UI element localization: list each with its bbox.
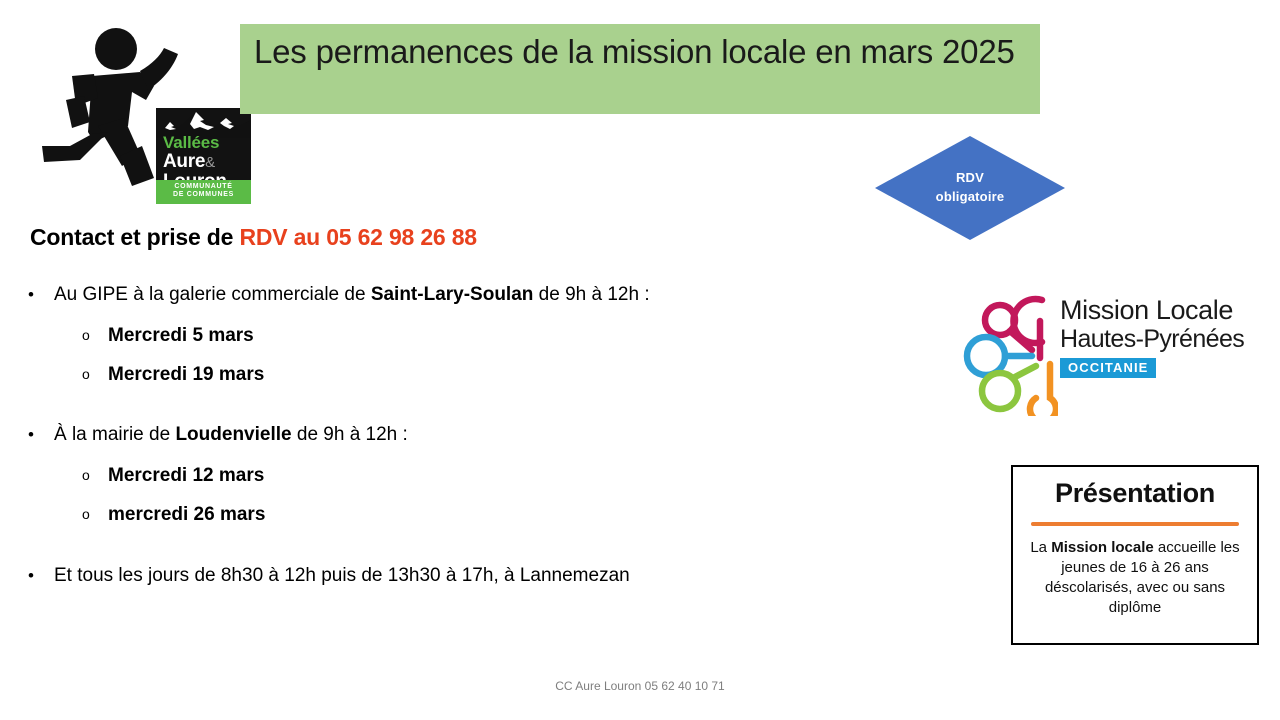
list-item: o Mercredi 19 mars: [28, 364, 858, 387]
list-item: o Mercredi 12 mars: [28, 465, 858, 488]
spacer: [28, 488, 858, 504]
sub-bullet-marker: o: [82, 325, 108, 347]
sub-bullet-marker: o: [82, 504, 108, 526]
bullet-marker: •: [28, 284, 54, 305]
diamond-label-line1: RDV: [956, 169, 984, 188]
diamond-label-line2: obligatoire: [936, 188, 1005, 207]
presentation-title: Présentation: [1023, 479, 1247, 509]
slide-title-banner: Les permanences de la mission locale en …: [240, 24, 1040, 114]
list-item: • Au GIPE à la galerie commerciale de Sa…: [28, 284, 858, 307]
occitanie-badge: OCCITANIE: [1060, 358, 1156, 378]
location-name: Loudenvielle: [175, 424, 291, 445]
sub-item-text: Mercredi 5 mars: [108, 325, 254, 348]
spacer: [28, 386, 858, 424]
spacer: [28, 447, 858, 465]
bullet-marker: •: [28, 565, 54, 586]
list-item-text: Et tous les jours de 8h30 à 12h puis de …: [54, 565, 630, 588]
presentation-body: La Mission locale accueille les jeunes d…: [1023, 538, 1247, 618]
list-item-text: À la mairie de Loudenvielle de 9h à 12h …: [54, 424, 408, 447]
mission-locale-wordmark: Mission Locale Hautes-Pyrénées OCCITANIE: [1060, 296, 1260, 378]
spacer: [28, 307, 858, 325]
contact-phone: RDV au 05 62 98 26 88: [239, 224, 476, 250]
list-item: • À la mairie de Loudenvielle de 9h à 12…: [28, 424, 858, 447]
mission-locale-circles-icon: [962, 286, 1058, 416]
divider: [1031, 522, 1239, 526]
rdv-obligatoire-badge: RDV obligatoire: [875, 136, 1065, 240]
spacer: [28, 348, 858, 364]
list-item-text: Au GIPE à la galerie commerciale de Sain…: [54, 284, 650, 307]
presentation-body-bold: Mission locale: [1051, 539, 1154, 556]
location-name: Saint-Lary-Soulan: [371, 284, 534, 305]
presentation-callout-box: Présentation La Mission locale accueille…: [1011, 465, 1259, 645]
list-item: o Mercredi 5 mars: [28, 325, 858, 348]
mission-locale-logo: Mission Locale Hautes-Pyrénées OCCITANIE: [962, 286, 1262, 418]
vallees-line2: Aure&: [163, 152, 251, 171]
sub-bullet-marker: o: [82, 364, 108, 386]
mission-locale-line1: Mission Locale: [1060, 296, 1260, 325]
permanences-list: • Au GIPE à la galerie commerciale de Sa…: [28, 284, 858, 588]
diamond-label: RDV obligatoire: [875, 136, 1065, 240]
vallees-aure-louron-logo: Vallées Aure& Louron COMMUNAUTÉ DE COMMU…: [156, 108, 251, 204]
sub-item-text: mercredi 26 mars: [108, 504, 265, 527]
ampersand-glyph: &: [205, 154, 215, 171]
sub-bullet-marker: o: [82, 465, 108, 487]
contact-heading: Contact et prise de RDV au 05 62 98 26 8…: [30, 224, 477, 251]
contact-prefix: Contact et prise de: [30, 224, 239, 250]
list-item: o mercredi 26 mars: [28, 504, 858, 527]
cc-line-2: DE COMMUNES: [156, 191, 251, 200]
communaute-de-communes-strip: COMMUNAUTÉ DE COMMUNES: [156, 180, 251, 205]
mission-locale-line2: Hautes-Pyrénées: [1060, 325, 1260, 353]
sub-item-text: Mercredi 12 mars: [108, 465, 264, 488]
page-title: Les permanences de la mission locale en …: [254, 32, 1026, 73]
list-item: • Et tous les jours de 8h30 à 12h puis d…: [28, 565, 858, 588]
bullet-marker: •: [28, 424, 54, 445]
footer-note: CC Aure Louron 05 62 40 10 71: [0, 679, 1280, 693]
sub-item-text: Mercredi 19 mars: [108, 364, 264, 387]
spacer: [28, 527, 858, 565]
vallees-line1: Vallées: [163, 134, 251, 151]
cc-line-1: COMMUNAUTÉ: [156, 183, 251, 192]
community-logo-block: Vallées Aure& Louron COMMUNAUTÉ DE COMMU…: [28, 14, 228, 194]
